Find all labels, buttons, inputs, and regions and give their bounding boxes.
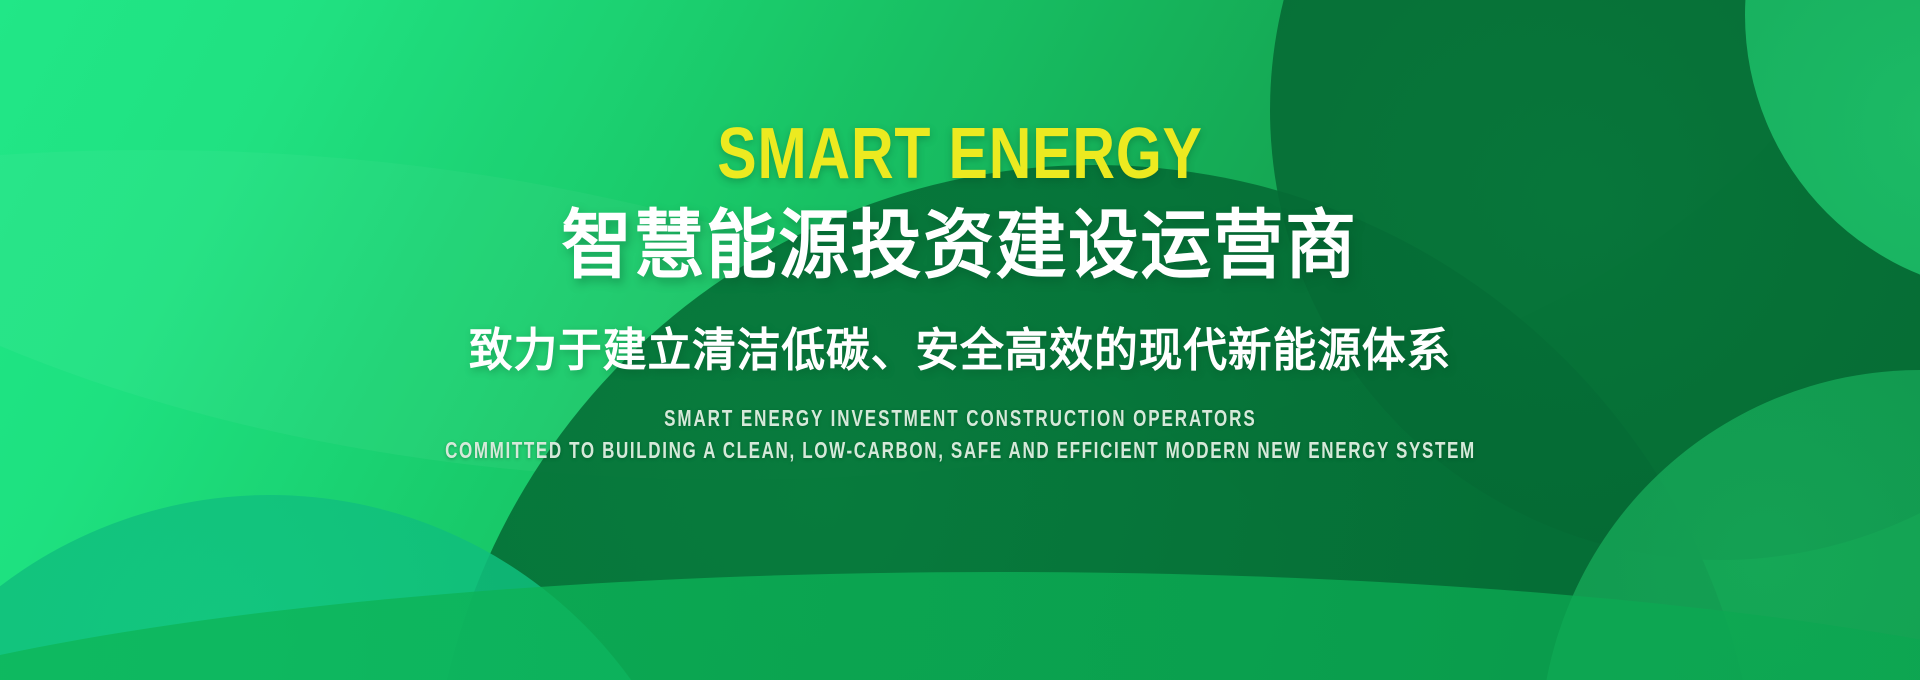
caption-line-2: COMMITTED TO BUILDING A CLEAN, LOW-CARBO… [445,437,1476,463]
headline-english: SMART ENERGY [717,118,1202,190]
headline-chinese: 智慧能源投资建设运营商 [562,206,1358,285]
caption-line-1: SMART ENERGY INVESTMENT CONSTRUCTION OPE… [664,405,1257,431]
subtitle-chinese: 致力于建立清洁低碳、安全高效的现代新能源体系 [469,325,1451,376]
banner-content: SMART ENERGY 智慧能源投资建设运营商 致力于建立清洁低碳、安全高效的… [0,0,1920,680]
hero-banner: SMART ENERGY 智慧能源投资建设运营商 致力于建立清洁低碳、安全高效的… [0,0,1920,680]
